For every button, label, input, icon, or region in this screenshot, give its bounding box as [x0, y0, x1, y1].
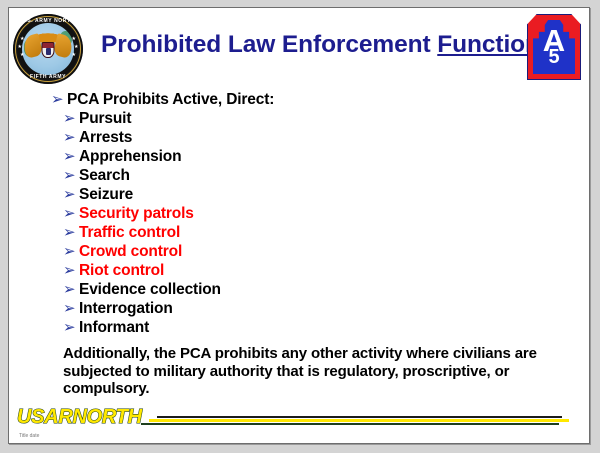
usarnorth-wordmark: USARNORTH: [17, 406, 142, 429]
arrow-bullet-icon: ➢: [63, 280, 79, 299]
closing-paragraph: Additionally, the PCA prohibits any othe…: [9, 345, 589, 398]
list-item-label: Search: [79, 166, 589, 185]
seal-inner-disc: [22, 23, 74, 75]
seal-shield-icon: [42, 42, 55, 58]
list-item-label: Traffic control: [79, 223, 589, 242]
arrow-bullet-icon: ➢: [63, 223, 79, 242]
us-army-north-seal-icon: U.S. ARMY NORTH FIFTH ARMY ★ ★ ★ ★ ★ ★: [13, 14, 83, 84]
list-item-label: Informant: [79, 318, 589, 337]
list-item: ➢ Informant: [9, 318, 589, 337]
list-item: ➢ Evidence collection: [9, 280, 589, 299]
list-item-label: Evidence collection: [79, 280, 589, 299]
slide-header: U.S. ARMY NORTH FIFTH ARMY ★ ★ ★ ★ ★ ★ P…: [9, 8, 589, 86]
seal-star-icon: ★: [72, 37, 76, 42]
list-item: ➢ Arrests: [9, 128, 589, 147]
arrow-bullet-icon: ➢: [51, 90, 67, 109]
seal-star-icon: ★: [20, 53, 24, 58]
slide-footer: USARNORTH Title date: [9, 395, 589, 443]
list-item: ➢ Crowd control: [9, 242, 589, 261]
arrow-bullet-icon: ➢: [63, 185, 79, 204]
list-item: ➢ Riot control: [9, 261, 589, 280]
slide-outer-frame: U.S. ARMY NORTH FIFTH ARMY ★ ★ ★ ★ ★ ★ P…: [0, 0, 600, 453]
list-item-label: Riot control: [79, 261, 589, 280]
seal-eagle-wing-left: [22, 33, 43, 58]
list-item-label: Crowd control: [79, 242, 589, 261]
seal-star-icon: ★: [72, 53, 76, 58]
title-date-placeholder: Title date: [19, 433, 39, 439]
list-item: ➢ Apprehension: [9, 147, 589, 166]
page-title-main: Prohibited Law Enforcement: [101, 31, 437, 58]
arrow-bullet-icon: ➢: [63, 299, 79, 318]
slide-canvas: U.S. ARMY NORTH FIFTH ARMY ★ ★ ★ ★ ★ ★ P…: [8, 7, 590, 444]
list-item: ➢ Pursuit: [9, 109, 589, 128]
list-item: ➢ PCA Prohibits Active, Direct:: [9, 90, 589, 109]
arrow-bullet-icon: ➢: [63, 204, 79, 223]
seal-bottom-text: FIFTH ARMY: [13, 74, 83, 80]
list-item: ➢ Traffic control: [9, 223, 589, 242]
arrow-bullet-icon: ➢: [63, 109, 79, 128]
seal-top-text: U.S. ARMY NORTH: [13, 18, 83, 24]
list-item: ➢ Search: [9, 166, 589, 185]
arrow-bullet-icon: ➢: [63, 242, 79, 261]
list-item-label: Apprehension: [79, 147, 589, 166]
list-item-label: Pursuit: [79, 109, 589, 128]
list-item: ➢ Seizure: [9, 185, 589, 204]
fifth-army-patch-icon: A 5: [527, 14, 581, 80]
page-title: Prohibited Law Enforcement Functions: [101, 30, 531, 60]
list-item-label: Security patrols: [79, 204, 589, 223]
list-item-label: Interrogation: [79, 299, 589, 318]
list-item-label: Seizure: [79, 185, 589, 204]
arrow-bullet-icon: ➢: [63, 261, 79, 280]
slide-body: ➢ PCA Prohibits Active, Direct: ➢ Pursui…: [9, 90, 589, 398]
arrow-bullet-icon: ➢: [63, 166, 79, 185]
footer-rule-dark: [157, 416, 562, 418]
arrow-bullet-icon: ➢: [63, 128, 79, 147]
seal-star-icon: ★: [18, 45, 22, 50]
arrow-bullet-icon: ➢: [63, 147, 79, 166]
footer-rule-green: [141, 423, 559, 425]
seal-star-icon: ★: [74, 45, 78, 50]
list-item-label: Arrests: [79, 128, 589, 147]
seal-star-icon: ★: [20, 37, 24, 42]
footer-rule-yellow: [149, 419, 569, 422]
arrow-bullet-icon: ➢: [63, 318, 79, 337]
list-item: ➢ Security patrols: [9, 204, 589, 223]
patch-number-5: 5: [527, 47, 581, 67]
list-item-label: PCA Prohibits Active, Direct:: [67, 90, 589, 109]
list-item: ➢ Interrogation: [9, 299, 589, 318]
